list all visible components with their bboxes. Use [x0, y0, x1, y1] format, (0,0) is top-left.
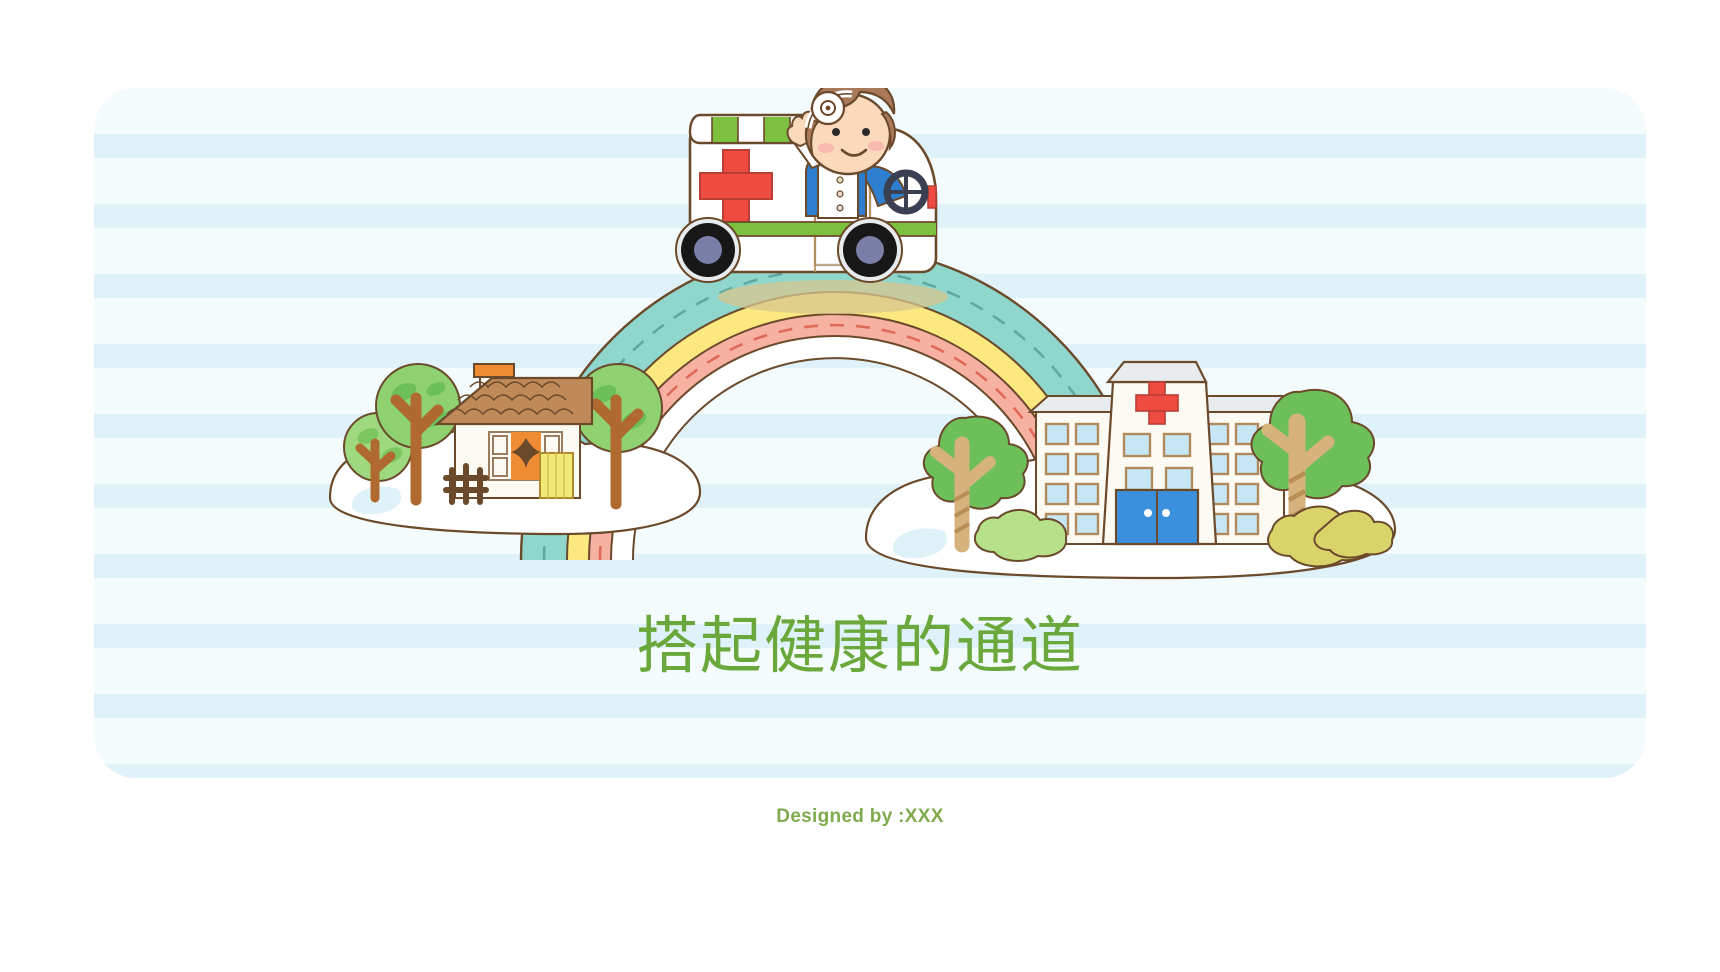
designed-by-credit: Designed by :XXX	[0, 806, 1720, 828]
page-title: 搭起健康的通道	[0, 612, 1720, 680]
slide-canvas: 搭起健康的通道 Designed by :XXX	[0, 0, 1720, 972]
